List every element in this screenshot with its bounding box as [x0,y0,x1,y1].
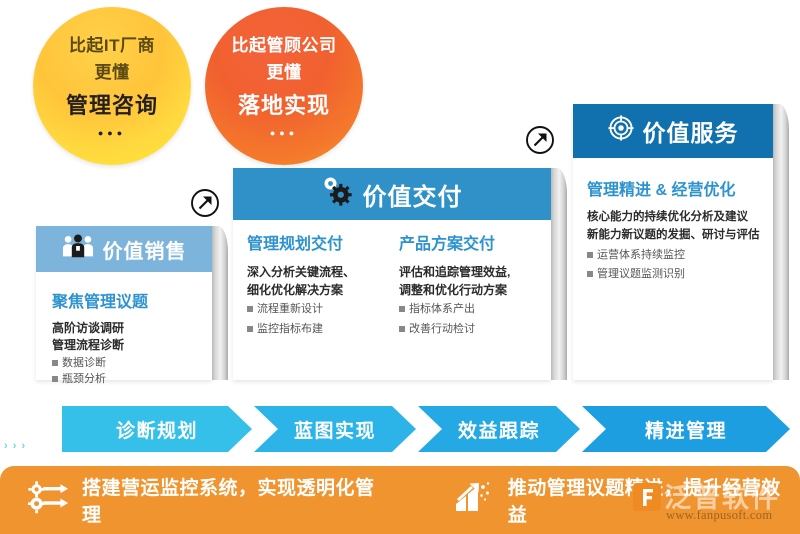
arrow-sales-to-delivery [190,188,220,218]
column-line: 深入分析关键流程、 [247,263,381,281]
process-step-diagnosis-planning[interactable]: 诊断规划 [62,406,252,452]
process-step-label: 诊断规划 [116,416,198,443]
banner-item-monitoring: 搭建营运监控系统，实现透明化管理 [28,473,394,527]
delivery-column-product: 产品方案交付 评估和追踪管理效益, 调整和优化行动方案 指标体系产出 改善行动检… [399,230,533,338]
card-title: 价值销售 [103,235,187,264]
bullet-square-icon [52,376,58,382]
process-step-bar: › › › 诊断规划 蓝图实现 效益跟踪 精进管理 [0,406,800,456]
card-title: 价值交付 [363,177,463,212]
circle-dots: ●●● [270,129,298,138]
delivery-column-planning: 管理规划交付 深入分析关键流程、 细化优化解决方案 流程重新设计 监控指标布建 [247,230,381,338]
column-line: 调整和优化行动方案 [399,281,533,299]
bullet-square-icon [587,252,593,258]
process-step-continuous-improvement[interactable]: 精进管理 [582,406,790,452]
card-line: 高阶访谈调研 [52,320,200,337]
column-line: 细化优化解决方案 [247,281,381,299]
column-subtitle: 管理规划交付 [247,230,381,254]
banner-text: 推动管理议题精进，提升经营效益 [508,473,800,527]
bullet-square-icon [52,360,58,366]
bullet-text: 监控指标布建 [257,321,323,339]
card-subtitle: 聚焦管理议题 [52,288,200,312]
circle-line-1: 比起管顾公司 [232,35,337,56]
bottom-banner: 搭建营运监控系统，实现透明化管理 [0,466,800,534]
card-bullet: 数据诊断 [52,355,200,372]
bullet-text: 数据诊断 [62,355,106,372]
process-step-benefit-tracking[interactable]: 效益跟踪 [418,406,580,452]
column-subtitle: 产品方案交付 [399,230,533,254]
bullet-text: 运营体系持续监控 [597,247,685,265]
card-value-service: 价值服务 管理精进 & 经营优化 核心能力的持续优化分析及建议 新能力新议题的发… [573,104,773,380]
column-line: 评估和追踪管理效益, [399,263,533,281]
infographic-canvas: 比起IT厂商 更懂 管理咨询 ●●● 比起管顾公司 更懂 落地实现 ●●● [0,0,800,534]
card-body-value-service: 管理精进 & 经营优化 核心能力的持续优化分析及建议 新能力新议题的发掘、研讨与… [573,158,773,284]
card-bullet: 瓶颈分析 [52,371,200,388]
card-body-value-delivery: 管理规划交付 深入分析关键流程、 细化优化解决方案 流程重新设计 监控指标布建 … [233,220,551,338]
circle-line-2: 更懂 [267,62,302,83]
card-line: 新能力新议题的发掘、研讨与评估 [587,227,761,245]
circle-line-2: 更懂 [95,62,130,83]
card-bullet: 管理议题监测识别 [587,266,761,284]
page-curl-edge [551,168,567,380]
circle-highlight: 管理咨询 [66,92,158,120]
card-header-value-delivery: 价值交付 [233,168,551,220]
bullet-square-icon [587,271,593,277]
card-header-value-service: 价值服务 [573,104,773,158]
bullet-square-icon [399,306,405,312]
card-line: 核心能力的持续优化分析及建议 [587,209,761,227]
gears-arrows-icon [28,480,70,520]
bullet-text: 流程重新设计 [257,301,323,319]
bullet-square-icon [399,326,405,332]
growth-chart-icon [454,480,496,520]
badge-circle-consulting-firm: 比起管顾公司 更懂 落地实现 ●●● [205,7,363,165]
badge-circle-it-vendor: 比起IT厂商 更懂 管理咨询 ●●● [33,7,191,165]
circle-line-1: 比起IT厂商 [69,35,155,56]
bullet-square-icon [247,326,253,332]
banner-text: 搭建营运监控系统，实现透明化管理 [82,473,394,527]
card-title: 价值服务 [643,114,739,148]
gear-icon [322,176,354,213]
card-value-sales: 价值销售 聚焦管理议题 高阶访谈调研 管理流程诊断 数据诊断 瓶颈分析 [36,226,212,380]
page-curl-edge [212,226,228,380]
card-header-value-sales: 价值销售 [36,226,212,272]
process-step-label: 精进管理 [645,416,727,443]
bullet-text: 瓶颈分析 [62,371,106,388]
process-step-label: 效益跟踪 [458,416,540,443]
bullet-text: 管理议题监测识别 [597,266,685,284]
card-value-delivery: 价值交付 管理规划交付 深入分析关键流程、 细化优化解决方案 流程重新设计 监控… [233,168,551,380]
process-lead-dots: › › › [4,440,26,452]
page-curl-edge [773,104,789,380]
card-bullet: 运营体系持续监控 [587,247,761,265]
card-subtitle: 管理精进 & 经营优化 [587,176,761,200]
target-icon [608,115,634,147]
process-step-label: 蓝图实现 [294,416,376,443]
column-bullet: 指标体系产出 [399,301,533,319]
bullet-square-icon [247,306,253,312]
column-bullet: 改善行动检讨 [399,321,533,339]
people-icon [62,233,94,265]
process-step-blueprint[interactable]: 蓝图实现 [254,406,416,452]
column-bullet: 流程重新设计 [247,301,381,319]
circle-dots: ●●● [98,129,126,138]
column-bullet: 监控指标布建 [247,321,381,339]
card-line: 管理流程诊断 [52,337,200,354]
card-body-value-sales: 聚焦管理议题 高阶访谈调研 管理流程诊断 数据诊断 瓶颈分析 [36,272,212,388]
circle-highlight: 落地实现 [238,92,330,120]
arrow-delivery-to-service [525,125,555,155]
bullet-text: 指标体系产出 [409,301,475,319]
bullet-text: 改善行动检讨 [409,321,475,339]
banner-item-improvement: 推动管理议题精进，提升经营效益 [454,473,800,527]
